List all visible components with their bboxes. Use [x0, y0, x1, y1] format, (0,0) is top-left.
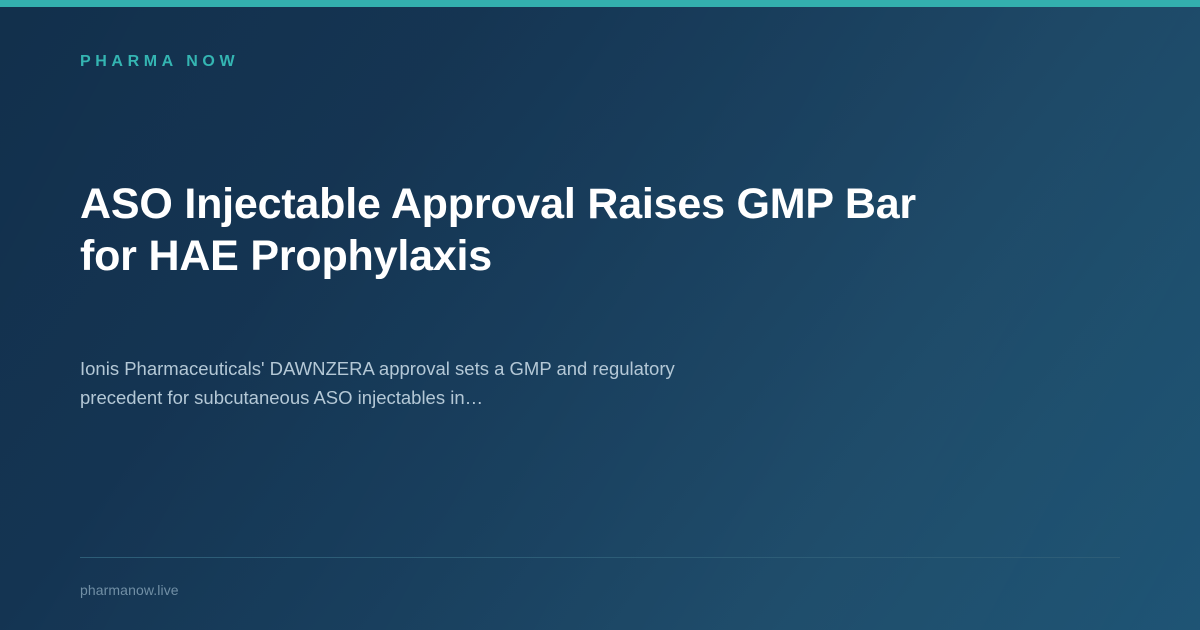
footer-site-url: pharmanow.live	[80, 581, 179, 599]
footer-divider	[80, 557, 1120, 558]
share-card: PHARMA NOW ASO Injectable Approval Raise…	[0, 0, 1200, 630]
brand-eyebrow-label: PHARMA NOW	[80, 51, 239, 73]
top-accent-bar	[0, 0, 1200, 7]
card-content: PHARMA NOW ASO Injectable Approval Raise…	[0, 0, 1200, 630]
article-summary: Ionis Pharmaceuticals' DAWNZERA approval…	[80, 354, 720, 412]
article-headline: ASO Injectable Approval Raises GMP Bar f…	[80, 178, 980, 282]
